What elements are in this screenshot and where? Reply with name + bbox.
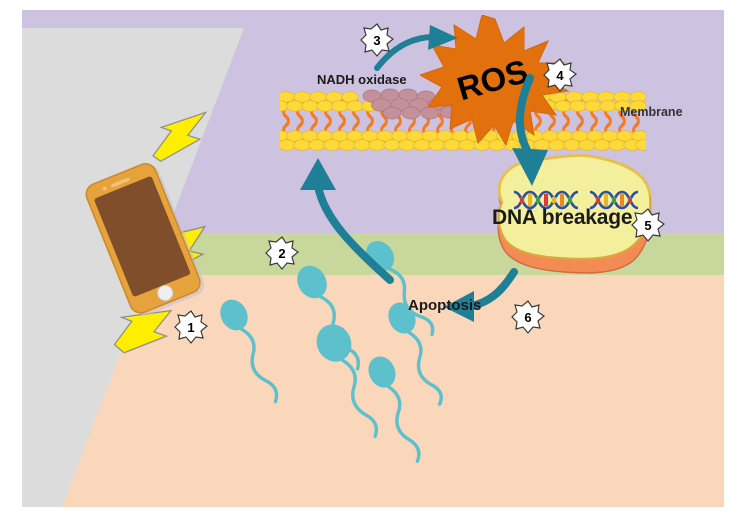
step-badge-4-number: 4: [556, 68, 563, 83]
step-badge-1-number: 1: [187, 320, 194, 335]
arrow-ros-to-nucleus: [512, 78, 548, 186]
membrane-label: Membrane: [620, 105, 683, 119]
apoptosis-label: Apoptosis: [408, 297, 481, 314]
step-badge-1[interactable]: 1: [174, 310, 208, 344]
arrow-sperm-to-membrane: [300, 158, 390, 280]
step-badge-3-number: 3: [373, 33, 380, 48]
step-badge-6-number: 6: [524, 310, 531, 325]
nadh-oxidase-label: NADH oxidase: [317, 72, 407, 87]
step-badge-6[interactable]: 6: [511, 300, 545, 334]
step-badge-2[interactable]: 2: [265, 236, 299, 270]
step-badge-2-number: 2: [278, 246, 285, 261]
step-badge-3[interactable]: 3: [360, 23, 394, 57]
diagram-area: ROS NADH oxid: [22, 10, 724, 507]
step-badge-5[interactable]: 5: [631, 208, 665, 242]
step-badge-4[interactable]: 4: [543, 58, 577, 92]
step-badge-5-number: 5: [644, 218, 651, 233]
dna-breakage-label: DNA breakage: [492, 206, 632, 230]
figure-canvas: ROS NADH oxid: [0, 0, 740, 526]
